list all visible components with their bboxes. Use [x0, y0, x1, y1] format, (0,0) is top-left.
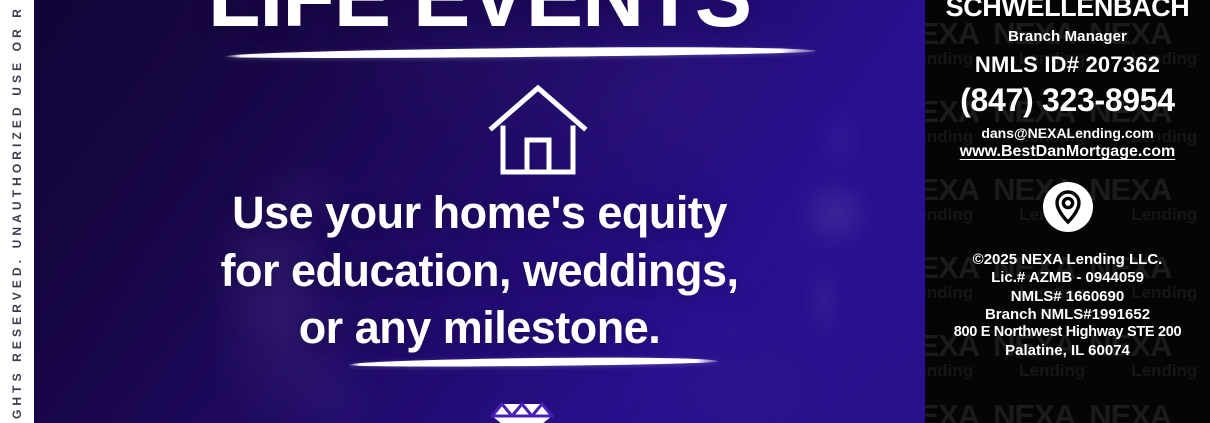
promo-body-copy: Use your home's equity for education, we… [34, 184, 925, 357]
location-pin-icon [1042, 181, 1094, 233]
diamond-gem-icon [490, 398, 554, 423]
contact-panel: NEXA NEXA NEXA Lending Lending Lending N… [925, 0, 1210, 423]
nexa-wm-word: NEXA [1089, 400, 1171, 423]
legal-line-5: 800 E Northwest Highway STE 200 [931, 324, 1204, 342]
nexa-wm-sub: Lending [925, 362, 973, 379]
legal-line-6: Palatine, IL 60074 [931, 342, 1204, 360]
body-line-1: Use your home's equity [34, 184, 925, 242]
house-outline-icon [486, 82, 590, 176]
nexa-wm-word: NEXA [925, 400, 979, 423]
body-line-3: or any milestone. [34, 299, 925, 357]
page-title: LIFE EVENTS [34, 0, 925, 40]
agent-role: Branch Manager [931, 28, 1204, 45]
agent-website-link[interactable]: www.BestDanMortgage.com [931, 143, 1204, 161]
agent-email[interactable]: dans@NEXALending.com [931, 125, 1204, 141]
copyright-watermark-text: GHTS RESERVED. UNAUTHORIZED USE OR R [10, 4, 24, 418]
creative-banner: GHTS RESERVED. UNAUTHORIZED USE OR R LIF… [0, 0, 1210, 423]
nexa-wm-sub: Lending [1019, 362, 1085, 379]
agent-nmls-id: NMLS ID# 207362 [931, 52, 1204, 78]
body-line-2: for education, weddings, [34, 242, 925, 300]
legal-line-4: Branch NMLS#1991652 [931, 306, 1204, 324]
legal-disclaimer: ©2025 NEXA Lending LLC. Lic.# AZMB - 094… [931, 251, 1204, 360]
legal-line-1: ©2025 NEXA Lending LLC. [931, 251, 1204, 269]
legal-line-2: Lic.# AZMB - 0944059 [931, 269, 1204, 287]
nexa-wm-word: NEXA [993, 400, 1075, 423]
nexa-wm-sub: Lending [1131, 362, 1197, 379]
agent-name: SCHWELLENBACH [931, 0, 1204, 21]
legal-line-3: NMLS# 1660690 [931, 288, 1204, 306]
copyright-watermark-strip: GHTS RESERVED. UNAUTHORIZED USE OR R [0, 0, 34, 423]
promo-panel: LIFE EVENTS Use your home's equity for e… [34, 0, 925, 423]
agent-phone[interactable]: (847) 323-8954 [931, 82, 1204, 119]
